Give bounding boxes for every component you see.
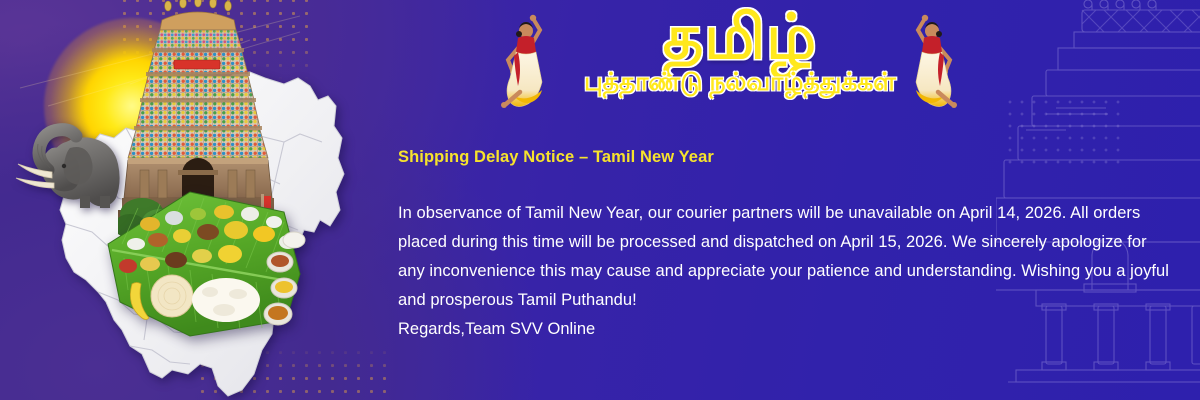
notice-regards-text: Regards,Team SVV Online	[398, 315, 1170, 344]
tamil-new-year-subtitle: புத்தாண்டு நல்வாழ்த்துக்கள்	[560, 68, 920, 100]
notice-heading: Shipping Delay Notice – Tamil New Year	[398, 148, 1170, 167]
bharatanatyam-dancer-right-icon	[898, 8, 970, 112]
notice-body-text: In observance of Tamil New Year, our cou…	[398, 199, 1170, 315]
tamil-greeting-block: தமிழ் புத்தாண்டு நல்வாழ்த்துக்கள்	[560, 6, 920, 100]
bharatanatyam-dancer-left-icon	[488, 8, 560, 112]
tamil-nadu-collage	[0, 0, 382, 400]
shipping-notice-block: Shipping Delay Notice – Tamil New Year I…	[398, 148, 1170, 344]
banana-leaf-feast-icon	[98, 178, 310, 346]
tamil-new-year-banner: தமிழ் புத்தாண்டு நல்வாழ்த்துக்கள் Shippi…	[0, 0, 1200, 400]
tamil-new-year-title: தமிழ்	[560, 6, 920, 70]
